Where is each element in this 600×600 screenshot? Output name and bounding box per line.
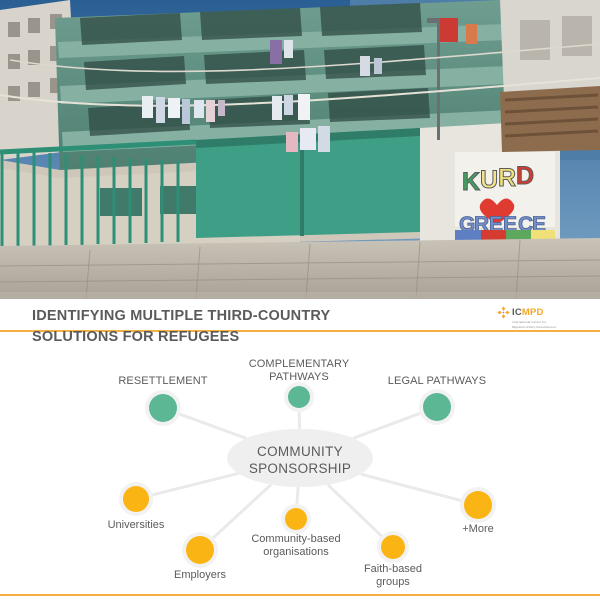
node-complementary[interactable] — [288, 386, 310, 408]
photo-illustration: K U R D GRE ECE — [0, 0, 600, 299]
node-label-complementary: COMPLEMENTARY PATHWAYS — [239, 358, 359, 383]
node-more[interactable] — [464, 491, 492, 519]
logo-subtitle-line2: Migration Policy Development — [512, 325, 569, 329]
header-photo: K U R D GRE ECE — [0, 0, 600, 299]
logo-word-ic: IC — [512, 307, 522, 318]
logo-word-mpd: MPD — [522, 307, 544, 318]
hub-label-line1: COMMUNITY — [227, 443, 373, 460]
svg-text:U: U — [480, 166, 498, 194]
icmpd-wordmark: ICMPD — [512, 307, 544, 318]
node-faith-based-groups[interactable] — [381, 535, 405, 559]
logo-subtitle-line1: International Centre for — [512, 320, 569, 324]
node-label-community-based-orgs: Community-based organisations — [236, 533, 356, 558]
node-employers[interactable] — [186, 536, 214, 564]
link-employers — [213, 485, 272, 539]
node-label-faith-based-groups: Faith-based groups — [333, 563, 453, 588]
link-universities — [152, 473, 239, 495]
node-universities[interactable] — [123, 486, 149, 512]
node-label-universities: Universities — [76, 519, 196, 532]
node-label-more: +More — [418, 523, 538, 536]
link-community-based-orgs — [297, 487, 298, 505]
link-legal-pathways — [353, 413, 421, 438]
link-more — [361, 474, 462, 501]
node-label-legal-pathways: LEGAL PATHWAYS — [377, 375, 497, 388]
svg-text:D: D — [516, 162, 534, 190]
svg-text:R: R — [498, 164, 516, 192]
node-legal-pathways[interactable] — [423, 393, 451, 421]
hub-label: COMMUNITY SPONSORSHIP — [227, 443, 373, 477]
hub-label-line2: SPONSORSHIP — [227, 460, 373, 477]
svg-text:K: K — [462, 168, 480, 196]
icmpd-logo: ICMPD International Centre for Migration… — [497, 306, 569, 330]
link-resettlement — [179, 414, 246, 439]
footer-divider-rule — [0, 594, 600, 596]
slide: K U R D GRE ECE — [0, 0, 600, 600]
node-label-resettlement: RESETTLEMENT — [103, 375, 223, 388]
icmpd-diamond-icon — [497, 306, 510, 319]
page-title-line2: SOLUTIONS FOR REFUGEES — [32, 327, 432, 348]
node-resettlement[interactable] — [149, 394, 177, 422]
node-label-employers: Employers — [140, 569, 260, 582]
node-community-based-orgs[interactable] — [285, 508, 307, 530]
page-title: IDENTIFYING MULTIPLE THIRD-COUNTRY SOLUT… — [32, 306, 432, 348]
page-title-line1: IDENTIFYING MULTIPLE THIRD-COUNTRY — [32, 308, 330, 324]
link-faith-based-groups — [328, 485, 382, 537]
